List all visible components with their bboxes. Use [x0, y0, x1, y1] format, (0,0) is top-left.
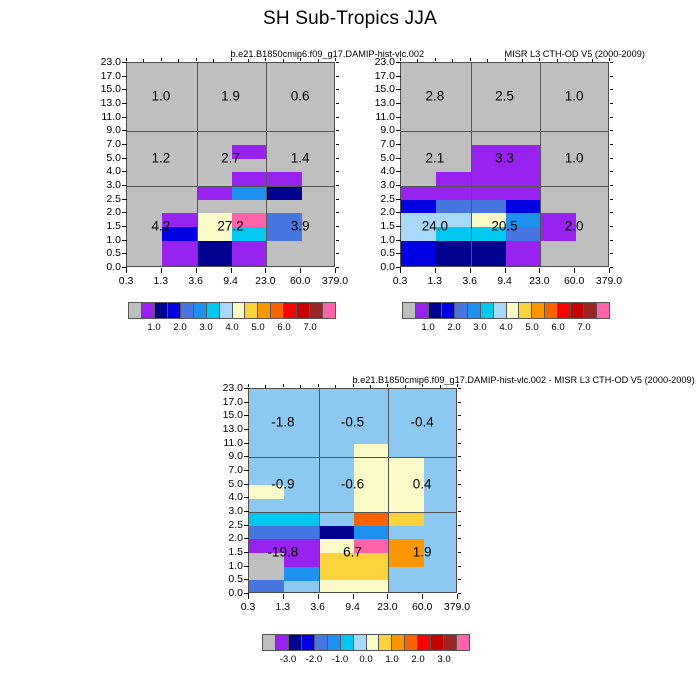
colorbar-swatch [392, 635, 405, 650]
colorbar-difference: -3.0-2.0-1.00.01.02.03.0 [0, 0, 700, 700]
colorbar-swatch [367, 635, 380, 650]
colorbar-tick-label: -3.0 [280, 654, 297, 665]
colorbar-tick-label: 1.0 [385, 654, 398, 665]
colorbar-swatch [418, 635, 431, 650]
colorbar-swatch [328, 635, 341, 650]
colorbar-swatch [379, 635, 392, 650]
colorbar-tick-label: -2.0 [306, 654, 323, 665]
colorbar-swatch [276, 635, 289, 650]
colorbar-swatch [457, 635, 469, 650]
colorbar-swatch [315, 635, 328, 650]
colorbar-swatch [444, 635, 457, 650]
colorbar-tick-label: 0.0 [359, 654, 372, 665]
colorbar-swatch [263, 635, 276, 650]
figure-canvas: SH Sub-Tropics JJA b.e21.B1850cmip6.f09_… [0, 0, 700, 700]
colorbar-tick-label: -1.0 [332, 654, 349, 665]
colorbar-swatch [405, 635, 418, 650]
colorbar-swatch [354, 635, 367, 650]
colorbar-tick-label: 3.0 [437, 654, 450, 665]
colorbar-swatch [341, 635, 354, 650]
colorbar-swatch [431, 635, 444, 650]
colorbar-swatch [302, 635, 315, 650]
colorbar-swatch [289, 635, 302, 650]
colorbar-tick-label: 2.0 [411, 654, 424, 665]
colorbar-strip [262, 634, 470, 651]
